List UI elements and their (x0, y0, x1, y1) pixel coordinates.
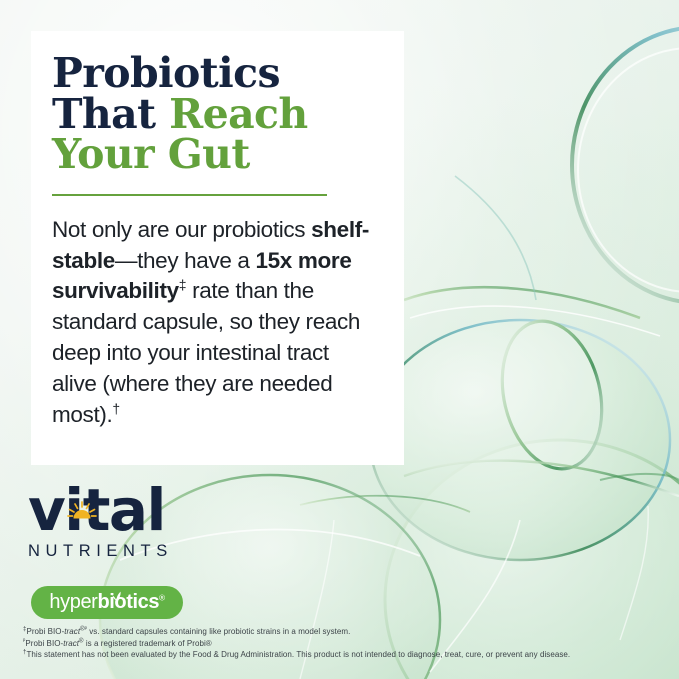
footnote-pre: This statement has not been evaluated by… (26, 650, 570, 659)
footnote-post: vs. standard capsules containing like pr… (87, 627, 350, 636)
footnotes-block: ‡Probi BIO-tract®ᵖ vs. standard capsules… (23, 626, 671, 661)
badge-registered-mark: ® (159, 593, 165, 602)
badge-text-biotics: biotics (97, 591, 159, 613)
body-copy: Not only are our probiotics shelf-stable… (52, 215, 376, 431)
logo-subtitle: NUTRIENTS (28, 542, 228, 561)
footnote-pre: Probi BIO- (26, 627, 64, 636)
page-title: Probiotics That Reach Your Gut (52, 53, 376, 175)
footnote-italic: tract (64, 627, 80, 636)
footnote-post: is a registered trademark of Probi® (84, 639, 212, 648)
sunburst-icon (66, 474, 98, 496)
vital-nutrients-logo: vital NUTRIENTS (28, 481, 228, 561)
leaf-icon (111, 584, 122, 594)
footnote-line: ᵖProbi BIO-tract® is a registered tradem… (23, 638, 671, 650)
footnote-pre: Probi BIO- (25, 639, 63, 648)
body-segment-3: —they have a (115, 248, 256, 273)
badge-text-hyper: hyper (49, 591, 97, 613)
footnote-line: †This statement has not been evaluated b… (23, 649, 671, 661)
footnote-marker-dagger: † (112, 400, 119, 416)
headline-divider (52, 194, 327, 196)
hyperbiotics-wordmark: hyperbiotics® (49, 591, 164, 614)
footnote-italic-sup: ®ᵖ (80, 625, 87, 632)
footnote-line: ‡Probi BIO-tract®ᵖ vs. standard capsules… (23, 626, 671, 638)
content-card: Probiotics That Reach Your Gut Not only … (31, 31, 404, 465)
headline-line-3-green: Your Gut (52, 130, 250, 178)
advertisement-canvas: Probiotics That Reach Your Gut Not only … (0, 0, 679, 679)
hyperbiotics-badge: hyperbiotics® (31, 586, 183, 619)
footnote-italic: tract (63, 639, 79, 648)
logo-wordmark-wrapper: vital (28, 481, 228, 541)
body-segment-1: Not only are our probiotics (52, 217, 311, 242)
